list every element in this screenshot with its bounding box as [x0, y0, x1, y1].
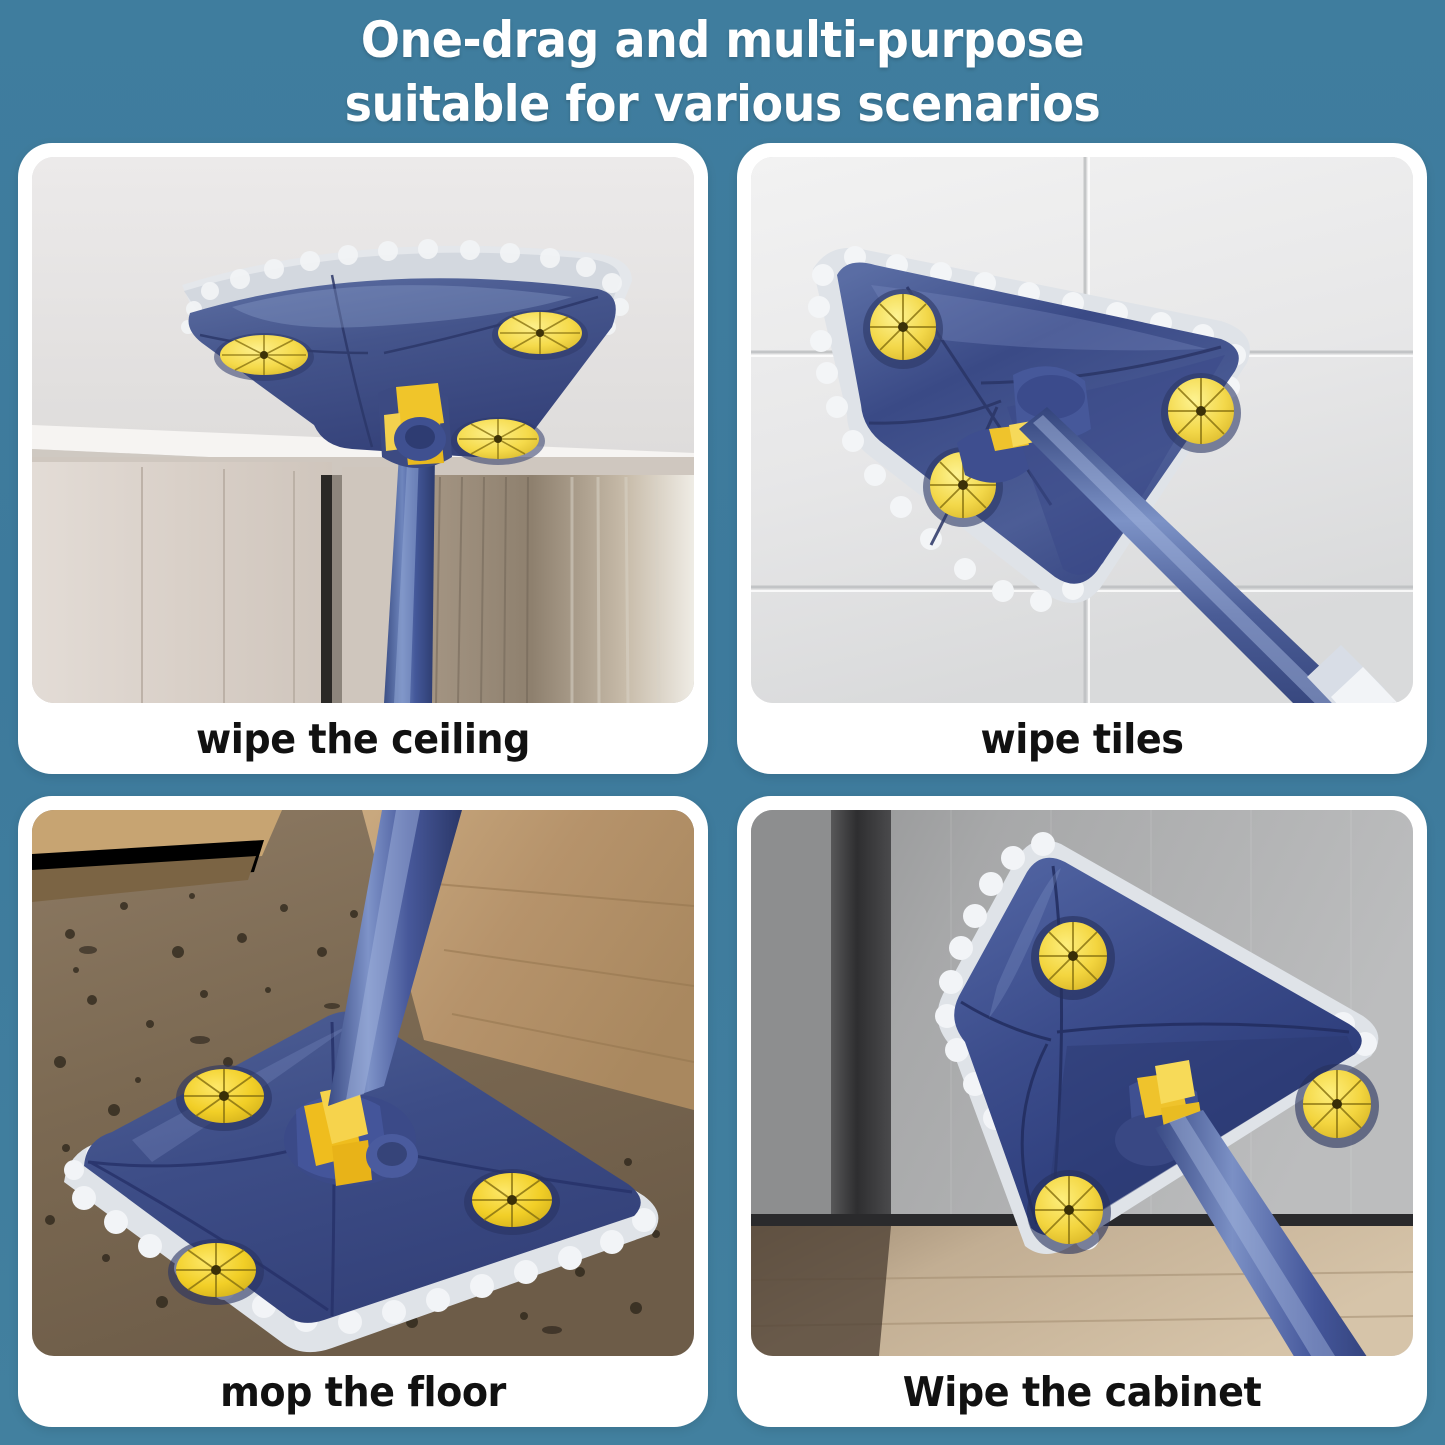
page-title-line-1: One-drag and multi-purpose: [58, 8, 1387, 72]
scenario-card-ceiling[interactable]: wipe the ceiling: [18, 143, 708, 774]
photo-cabinet: [751, 810, 1413, 1356]
scenario-card-tiles[interactable]: wipe tiles: [737, 143, 1427, 774]
photo-floor: [32, 810, 694, 1356]
caption-tiles: wipe tiles: [774, 703, 1390, 774]
ceiling-scene-illustration: [32, 157, 694, 703]
scenario-card-cabinet[interactable]: Wipe the cabinet: [737, 796, 1427, 1427]
page-title: One-drag and multi-purpose suitable for …: [58, 8, 1387, 136]
page-title-line-2: suitable for various scenarios: [58, 72, 1387, 136]
mop-pivot-ceiling: [378, 383, 452, 468]
caption-cabinet: Wipe the cabinet: [774, 1356, 1390, 1427]
caption-ceiling: wipe the ceiling: [55, 703, 671, 774]
scenario-grid: wipe the ceiling: [18, 143, 1427, 1427]
cabinet-scene-illustration: [751, 810, 1413, 1356]
scenario-card-floor[interactable]: mop the floor: [18, 796, 708, 1427]
photo-ceiling: [32, 157, 694, 703]
floor-scene-illustration: [32, 810, 694, 1356]
caption-floor: mop the floor: [55, 1356, 671, 1427]
tiles-scene-illustration: [751, 157, 1413, 703]
poster: One-drag and multi-purpose suitable for …: [0, 0, 1445, 1445]
photo-tiles: [751, 157, 1413, 703]
